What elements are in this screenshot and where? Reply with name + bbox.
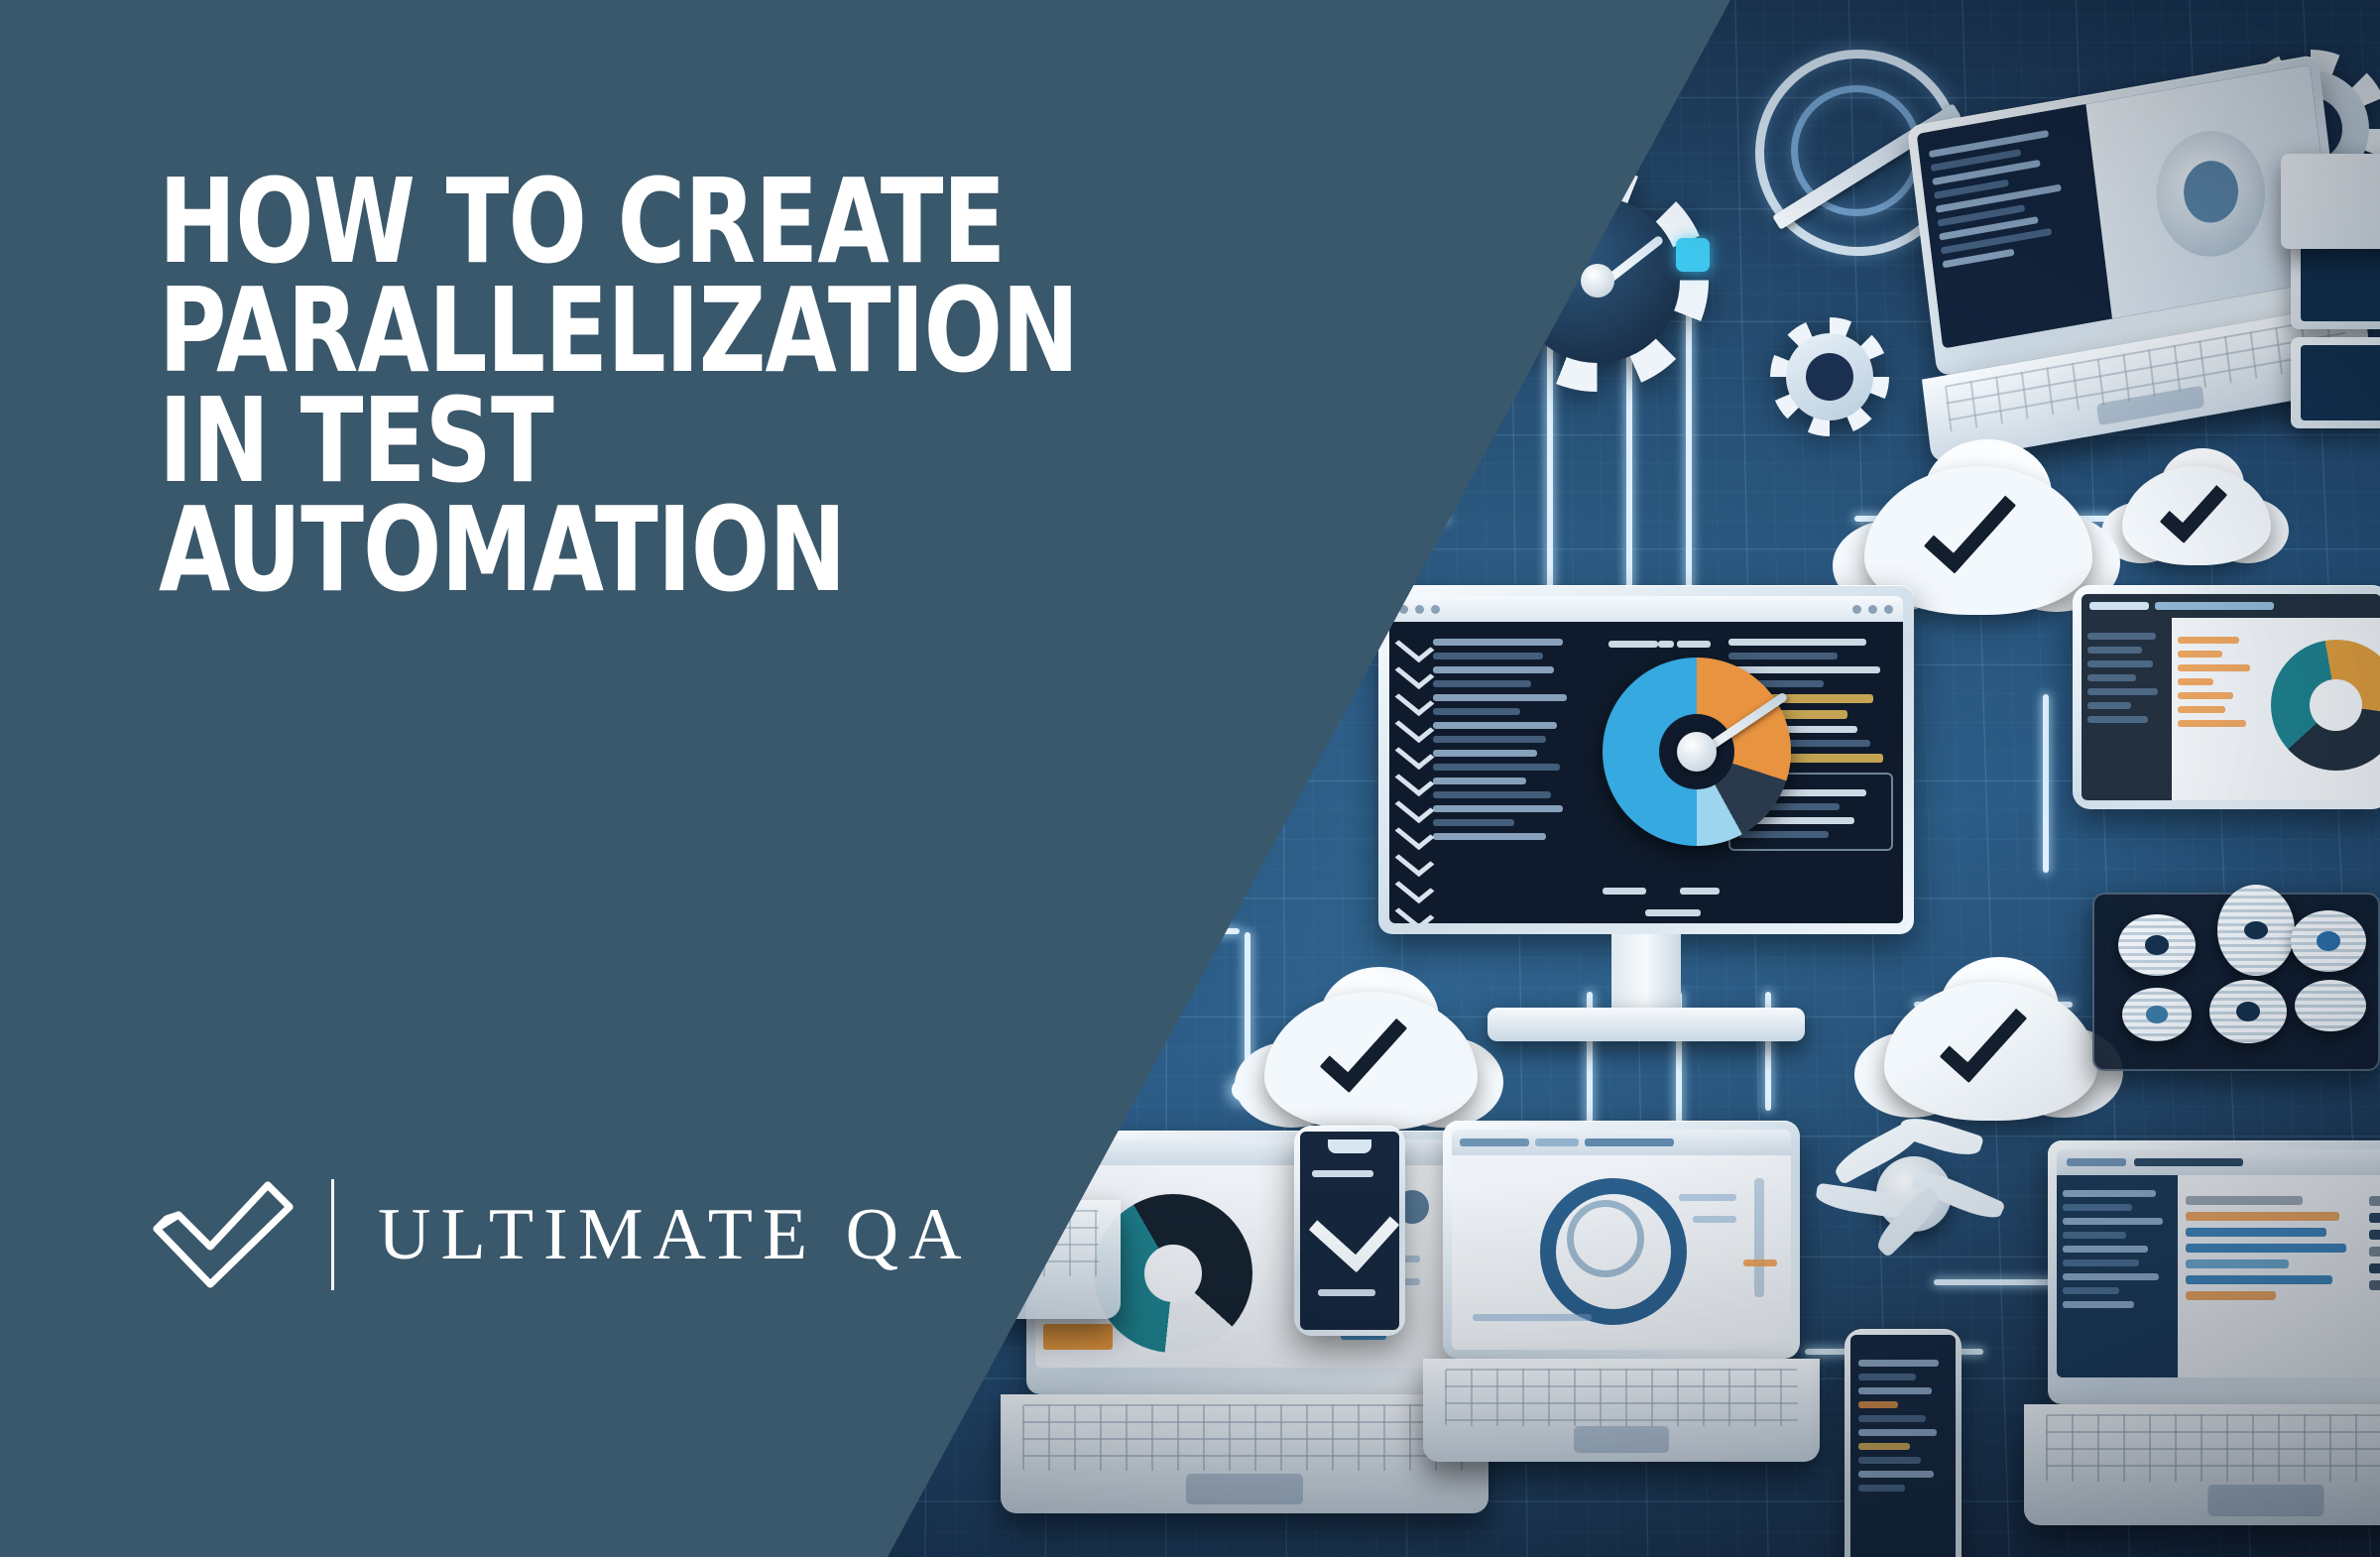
title-line-4: AUTOMATION bbox=[159, 495, 1346, 604]
checkmark-outline-icon bbox=[149, 1173, 297, 1296]
title-line-3: IN TEST bbox=[159, 386, 1346, 495]
poster-canvas: HOW TO CREATE PARALLELIZATION IN TEST AU… bbox=[0, 0, 2380, 1557]
title-line-1: HOW TO CREATE bbox=[159, 167, 1346, 276]
hero-text-panel: HOW TO CREATE PARALLELIZATION IN TEST AU… bbox=[0, 0, 1170, 1557]
logo-wordmark: ULTIMATE QA bbox=[378, 1193, 972, 1277]
page-title: HOW TO CREATE PARALLELIZATION IN TEST AU… bbox=[159, 167, 1346, 604]
logo-divider bbox=[331, 1179, 334, 1290]
brand-logo: ULTIMATE QA bbox=[149, 1165, 972, 1304]
title-line-2: PARALLELIZATION bbox=[159, 276, 1346, 385]
